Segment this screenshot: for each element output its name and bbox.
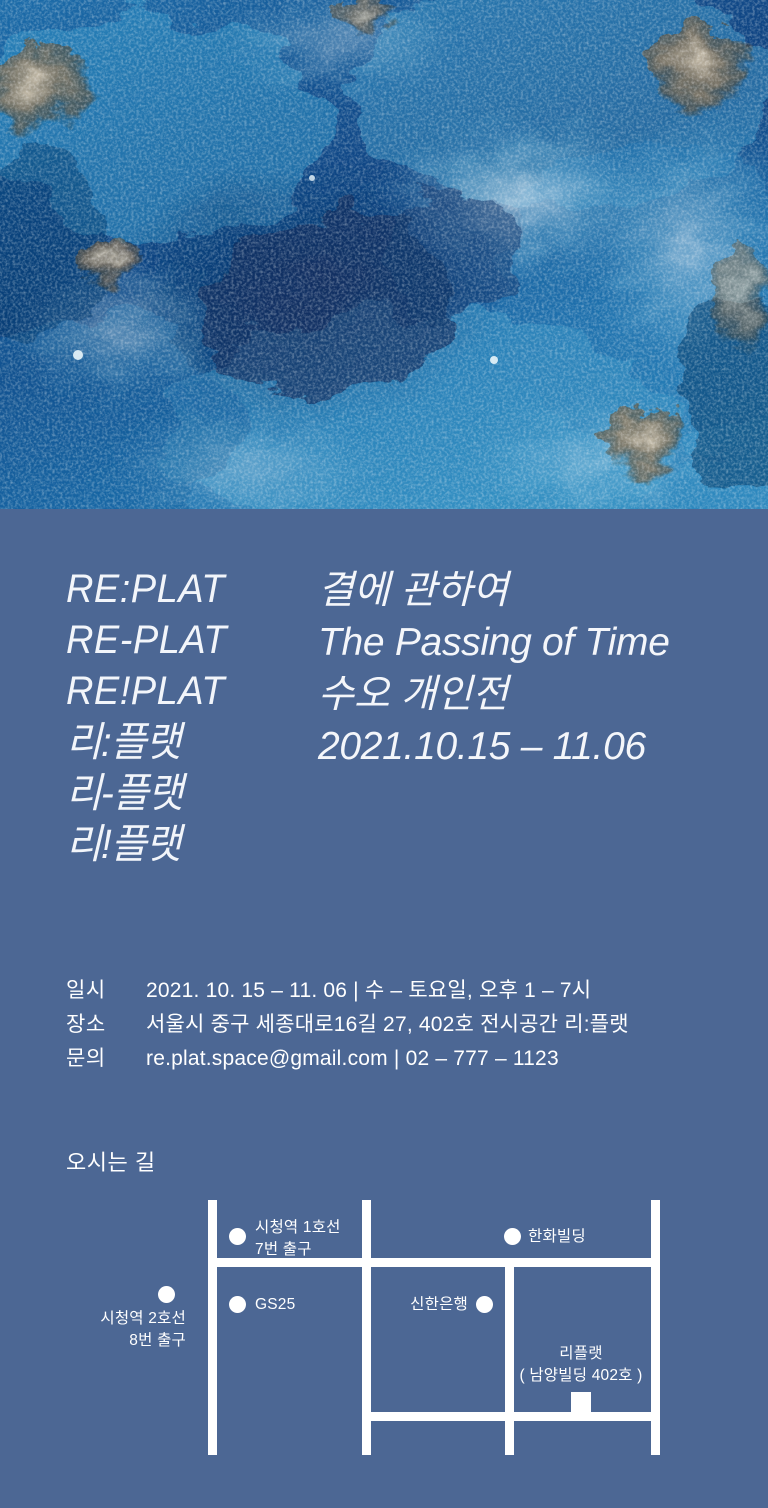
- marker-label-replat-row2: ( 남양빌딩 402호 ): [513, 1365, 649, 1387]
- marker-label-shinhan-bank: 신한은행: [330, 1294, 468, 1316]
- info-value-contact[interactable]: re.plat.space@gmail.com | 02 – 777 – 112…: [146, 1042, 559, 1076]
- marker-label-cityhall-line2-row1: 시청역 2호선: [0, 1308, 186, 1330]
- exhibition-title-english: The Passing of Time: [318, 617, 748, 669]
- artwork-image: [0, 0, 768, 509]
- artist-solo-exhibition: 수오 개인전: [318, 669, 748, 721]
- info-value-date: 2021. 10. 15 – 11. 06 | 수 – 토요일, 오후 1 – …: [146, 974, 591, 1008]
- marker-label-cityhall-line2: 시청역 2호선 8번 출구: [0, 1308, 186, 1352]
- marker-square-replat-venue: [571, 1392, 591, 1412]
- info-label-date: 일시: [66, 974, 146, 1008]
- info-value-venue: 서울시 중구 세종대로16길 27, 402호 전시공간 리:플랫: [146, 1008, 629, 1042]
- marker-label-cityhall-line2-row2: 8번 출구: [0, 1330, 186, 1352]
- road-vertical-mid-upper: [362, 1200, 371, 1262]
- info-row-date: 일시 2021. 10. 15 – 11. 06 | 수 – 토요일, 오후 1…: [66, 974, 756, 1008]
- road-vertical-left: [208, 1200, 217, 1455]
- road-horizontal-lower: [362, 1412, 660, 1421]
- marker-dot-cityhall-line2: [158, 1286, 175, 1303]
- marker-dot-shinhan-bank: [476, 1296, 493, 1313]
- logo-line-1: RE:PLAT: [66, 564, 304, 615]
- marker-label-cityhall-line1-row2: 7번 출구: [255, 1239, 341, 1261]
- info-row-contact: 문의 re.plat.space@gmail.com | 02 – 777 – …: [66, 1042, 756, 1076]
- logo-line-4: 리:플랫: [66, 717, 304, 768]
- marker-dot-gs25: [229, 1296, 246, 1313]
- info-row-venue: 장소 서울시 중구 세종대로16길 27, 402호 전시공간 리:플랫: [66, 1008, 756, 1042]
- location-map: 시청역 1호선 7번 출구 한화빌딩 시청역 2호선 8번 출구 GS25 신한…: [0, 1190, 768, 1490]
- logo-line-5: 리-플랫: [66, 768, 304, 819]
- road-vertical-mid-lower: [362, 1258, 371, 1455]
- marker-label-replat: 리플랫 ( 남양빌딩 402호 ): [513, 1343, 649, 1387]
- exhibition-title-korean: 결에 관하여: [318, 565, 748, 617]
- logo-wordmark: RE:PLAT RE-PLAT RE!PLAT 리:플랫 리-플랫 리!플랫: [66, 564, 316, 870]
- exhibition-title: 결에 관하여 The Passing of Time 수오 개인전 2021.1…: [318, 565, 748, 773]
- info-block: 일시 2021. 10. 15 – 11. 06 | 수 – 토요일, 오후 1…: [66, 974, 756, 1076]
- directions-heading: 오시는 길: [66, 1148, 156, 1178]
- info-label-contact: 문의: [66, 1042, 146, 1076]
- logo-line-2: RE-PLAT: [66, 615, 304, 666]
- logo-line-3: RE!PLAT: [66, 666, 304, 717]
- marker-label-cityhall-line1-row1: 시청역 1호선: [255, 1217, 341, 1239]
- marker-dot-cityhall-line1: [229, 1228, 246, 1245]
- marker-dot-hanwha: [504, 1228, 521, 1245]
- artwork-svg: [0, 0, 768, 509]
- logo-line-6: 리!플랫: [66, 819, 304, 870]
- exhibition-dates: 2021.10.15 – 11.06: [318, 721, 748, 773]
- marker-label-cityhall-line1: 시청역 1호선 7번 출구: [255, 1217, 341, 1261]
- marker-label-gs25: GS25: [255, 1294, 295, 1316]
- marker-label-hanwha: 한화빌딩: [528, 1226, 586, 1248]
- marker-label-replat-row1: 리플랫: [513, 1343, 649, 1365]
- info-label-venue: 장소: [66, 1008, 146, 1042]
